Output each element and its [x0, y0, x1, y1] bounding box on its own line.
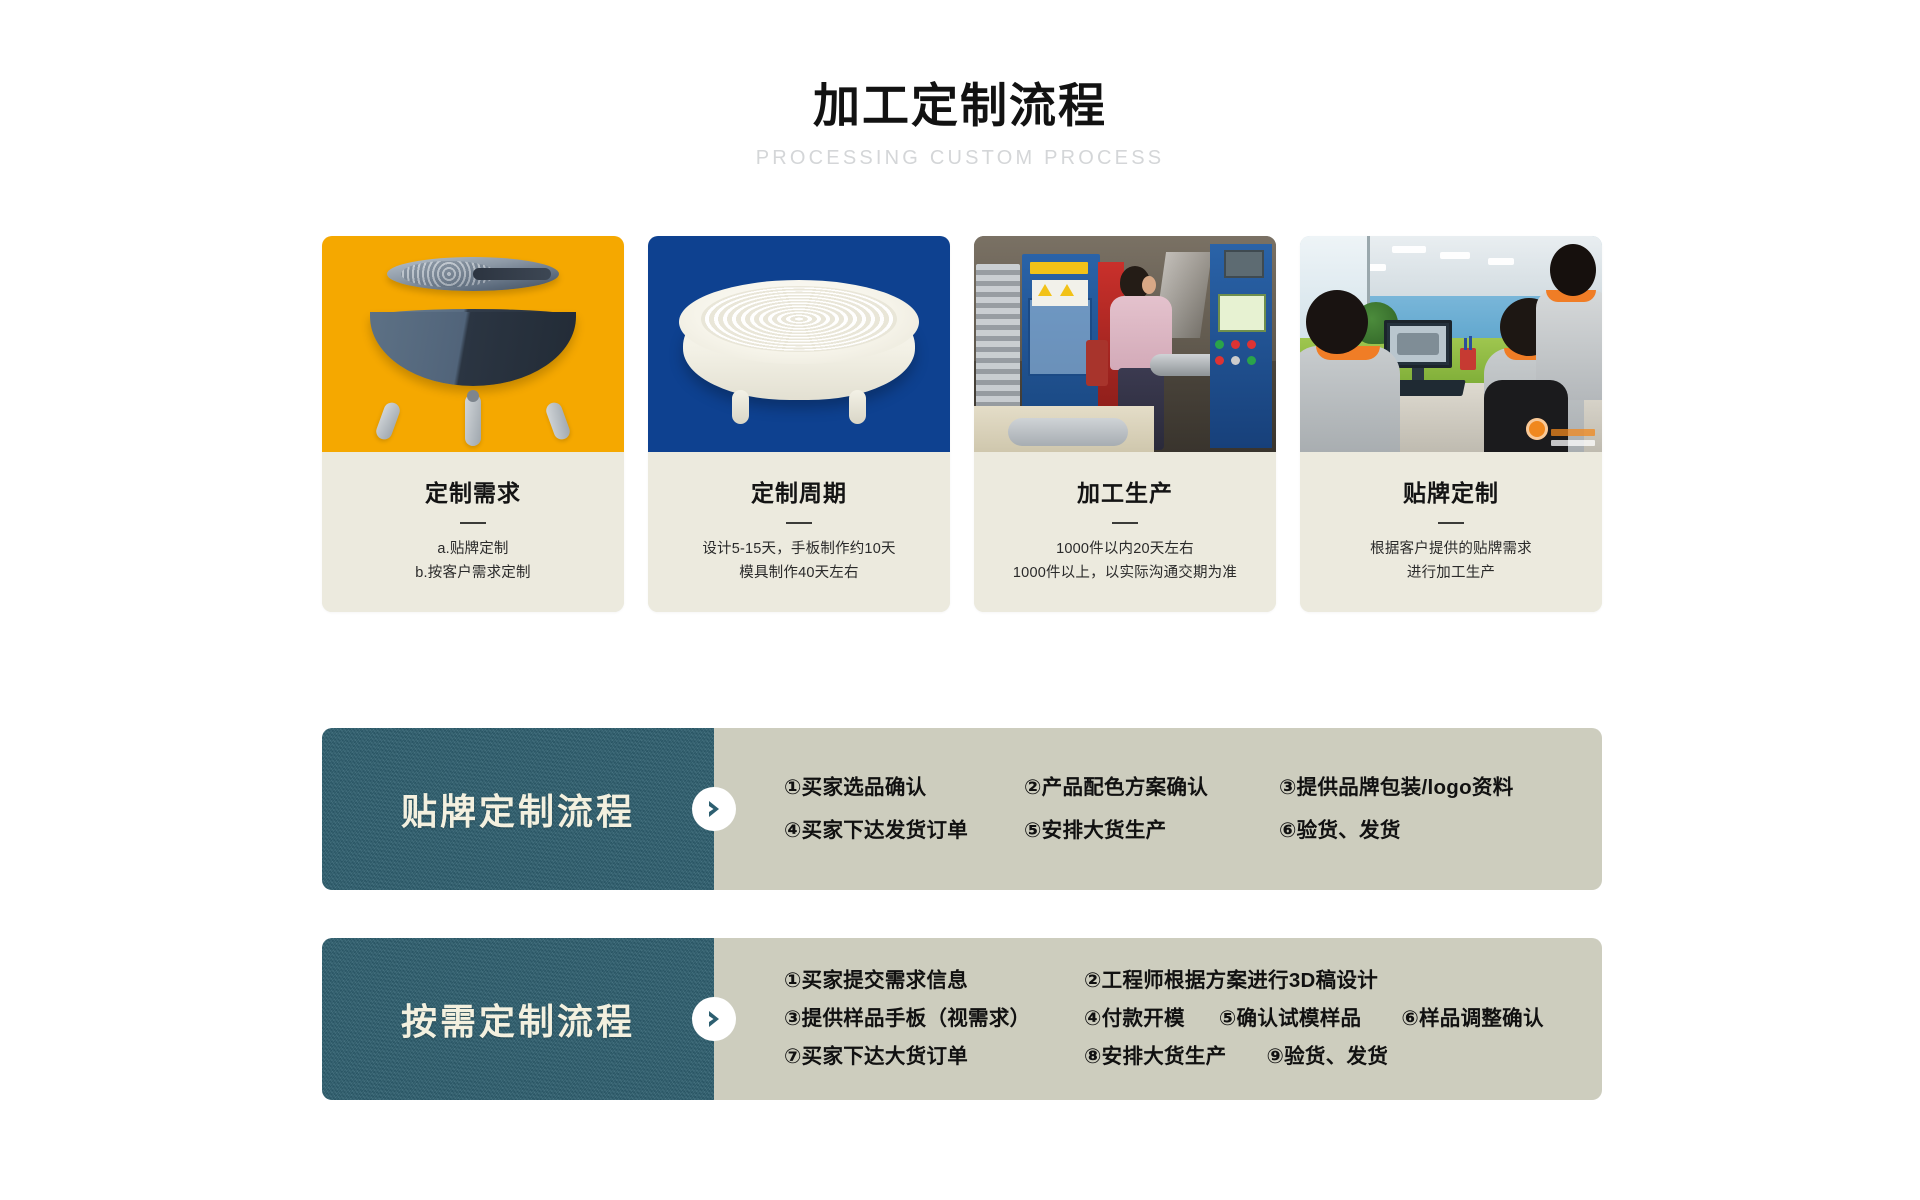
watermark-circle-icon: [1526, 418, 1548, 440]
factory-button-6-shape: [1247, 356, 1256, 365]
chevron-right-icon[interactable]: [692, 997, 736, 1041]
ondemand-process-label-panel: 按需定制流程: [322, 938, 714, 1100]
oem-process-label-panel: 贴牌定制流程: [322, 728, 714, 890]
watermark-text-line-2: [1551, 440, 1595, 446]
office-ceiling-light-1-shape: [1392, 246, 1426, 253]
card-title-3: 加工生产: [984, 474, 1266, 508]
card-desc-4-line-1: 根据客户提供的贴牌需求: [1310, 538, 1592, 562]
ondemand-process-label: 按需定制流程: [401, 993, 635, 1045]
ondemand-process-banner: 按需定制流程 ①买家提交需求信息 ②工程师根据方案进行3D稿设计 ③提供样品手板…: [322, 938, 1602, 1100]
card-desc-1-line-1: a.贴牌定制: [332, 538, 614, 562]
process-card-2[interactable]: 定制周期 设计5-15天，手板制作约10天 模具制作40天左右: [648, 236, 950, 612]
grill-lid-slot-shape: [473, 268, 551, 280]
watermark-text-line-1: [1551, 429, 1595, 436]
office-cad-drawing-shape: [1397, 333, 1439, 355]
ondemand-step-2: ②工程师根据方案进行3D稿设计: [1084, 962, 1378, 1000]
card-title-4: 贴牌定制: [1310, 474, 1592, 508]
card-image-white-prototype-photo: [648, 236, 950, 452]
card-image-factory-injection-molding-photo: [974, 236, 1276, 452]
oem-step-row-1: ①买家选品确认 ②产品配色方案确认 ③提供品牌包装/logo资料: [784, 766, 1582, 809]
card-divider-4: [1438, 522, 1464, 524]
factory-scene: [974, 236, 1276, 452]
card-desc-2-line-1: 设计5-15天，手板制作约10天: [658, 538, 940, 562]
office-person-left-body-shape: [1300, 346, 1400, 452]
oem-step-3: ③提供品牌包装/logo资料: [1279, 766, 1514, 809]
card-body-3: 加工生产 1000件以内20天左右 1000件以上，以实际沟通交期为准: [974, 452, 1276, 612]
office-monitor-screen-shape: [1390, 326, 1446, 362]
page-root: 加工定制流程 PROCESSING CUSTOM PROCESS 定制需求: [0, 0, 1920, 1200]
page-title: 加工定制流程: [0, 78, 1920, 134]
page-header: 加工定制流程 PROCESSING CUSTOM PROCESS: [0, 78, 1920, 170]
card-divider-2: [786, 522, 812, 524]
ondemand-step-5: ⑤确认试模样品: [1219, 1000, 1361, 1038]
grill-bowl-shape: [370, 312, 576, 386]
card-desc-2: 设计5-15天，手板制作约10天 模具制作40天左右: [658, 538, 940, 586]
oem-process-label: 贴牌定制流程: [401, 783, 635, 835]
factory-yellow-label-shape: [1030, 262, 1088, 274]
ondemand-step-row-3: ⑦买家下达大货订单 ⑧安排大货生产 ⑨验货、发货: [784, 1038, 1582, 1076]
card-desc-4: 根据客户提供的贴牌需求 进行加工生产: [1310, 538, 1592, 586]
factory-worker-face-shape: [1142, 276, 1156, 294]
factory-button-1-shape: [1215, 340, 1224, 349]
card-desc-1: a.贴牌定制 b.按客户需求定制: [332, 538, 614, 586]
process-card-3[interactable]: 加工生产 1000件以内20天左右 1000件以上，以实际沟通交期为准: [974, 236, 1276, 612]
oem-step-4: ④买家下达发货订单: [784, 809, 1024, 852]
ondemand-step-8: ⑧安排大货生产: [1084, 1038, 1226, 1076]
oem-step-5: ⑤安排大货生产: [1024, 809, 1279, 852]
oem-step-row-2: ④买家下达发货订单 ⑤安排大货生产 ⑥验货、发货: [784, 809, 1582, 852]
grill-leg-left-shape: [374, 400, 402, 441]
grill-leg-right-shape: [544, 400, 572, 441]
card-body-1: 定制需求 a.贴牌定制 b.按客户需求定制: [322, 452, 624, 612]
factory-hmi-screen-shape: [1218, 294, 1266, 332]
prototype-rings-shape: [701, 286, 897, 352]
factory-warning-sign-shape: [1032, 280, 1088, 306]
oem-step-6: ⑥验货、发货: [1279, 809, 1401, 852]
process-card-1[interactable]: 定制需求 a.贴牌定制 b.按客户需求定制: [322, 236, 624, 612]
card-desc-3-line-2: 1000件以上，以实际沟通交期为准: [984, 562, 1266, 586]
office-person-right-head-shape: [1550, 244, 1596, 296]
ondemand-step-4: ④付款开模: [1084, 1000, 1185, 1038]
ondemand-step-7: ⑦买家下达大货订单: [784, 1038, 1084, 1076]
factory-button-5-shape: [1231, 356, 1240, 365]
factory-button-3-shape: [1247, 340, 1256, 349]
card-desc-2-line-2: 模具制作40天左右: [658, 562, 940, 586]
card-title-2: 定制周期: [658, 474, 940, 508]
office-ceiling-light-3-shape: [1488, 258, 1514, 265]
card-desc-1-line-2: b.按客户需求定制: [332, 562, 614, 586]
ondemand-step-1: ①买家提交需求信息: [784, 962, 1084, 1000]
oem-step-2: ②产品配色方案确认: [1024, 766, 1279, 809]
process-card-4[interactable]: 贴牌定制 根据客户提供的贴牌需求 进行加工生产: [1300, 236, 1602, 612]
factory-molded-part-shape: [1008, 418, 1128, 446]
card-image-office-engineers-cad-photo: [1300, 236, 1602, 452]
oem-step-1: ①买家选品确认: [784, 766, 1024, 809]
card-body-2: 定制周期 设计5-15天，手板制作约10天 模具制作40天左右: [648, 452, 950, 612]
factory-button-4-shape: [1215, 356, 1224, 365]
office-pen-cup-shape: [1460, 348, 1476, 370]
card-title-1: 定制需求: [332, 474, 614, 508]
factory-red-block-shape: [1086, 340, 1108, 386]
factory-button-2-shape: [1231, 340, 1240, 349]
factory-machine-window-shape: [1028, 298, 1092, 376]
office-ceiling-light-2-shape: [1440, 252, 1470, 259]
ondemand-step-9: ⑨验货、发货: [1266, 1038, 1388, 1076]
office-keyboard-shape: [1390, 380, 1465, 396]
ondemand-step-6: ⑥样品调整确认: [1401, 1000, 1543, 1038]
card-image-exploded-grill-render: [322, 236, 624, 452]
card-desc-3-line-1: 1000件以内20天左右: [984, 538, 1266, 562]
office-scene: [1300, 236, 1602, 452]
office-watermark-logo: [1526, 414, 1596, 448]
ondemand-process-steps: ①买家提交需求信息 ②工程师根据方案进行3D稿设计 ③提供样品手板（视需求） ④…: [714, 938, 1602, 1100]
card-divider-3: [1112, 522, 1138, 524]
process-card-list: 定制需求 a.贴牌定制 b.按客户需求定制 定制周期 设: [322, 236, 1602, 612]
oem-process-steps: ①买家选品确认 ②产品配色方案确认 ③提供品牌包装/logo资料 ④买家下达发货…: [714, 728, 1602, 890]
prototype-foot-left-shape: [732, 390, 749, 424]
ondemand-step-row-2: ③提供样品手板（视需求） ④付款开模 ⑤确认试模样品 ⑥样品调整确认: [784, 1000, 1582, 1038]
card-desc-4-line-2: 进行加工生产: [1310, 562, 1592, 586]
grill-lid-shape: [387, 257, 559, 291]
office-person-left-head-shape: [1306, 290, 1368, 354]
prototype-foot-right-shape: [849, 390, 866, 424]
oem-process-banner: 贴牌定制流程 ①买家选品确认 ②产品配色方案确认 ③提供品牌包装/logo资料 …: [322, 728, 1602, 890]
grill-leg-center-shape: [465, 394, 481, 446]
card-desc-3: 1000件以内20天左右 1000件以上，以实际沟通交期为准: [984, 538, 1266, 586]
factory-parts-stack-shape: [976, 264, 1020, 412]
chevron-right-icon[interactable]: [692, 787, 736, 831]
card-divider-1: [460, 522, 486, 524]
page-subtitle: PROCESSING CUSTOM PROCESS: [0, 147, 1920, 170]
card-body-4: 贴牌定制 根据客户提供的贴牌需求 进行加工生产: [1300, 452, 1602, 612]
ondemand-step-3: ③提供样品手板（视需求）: [784, 1000, 1084, 1038]
factory-upper-display-shape: [1224, 250, 1264, 278]
ondemand-step-row-1: ①买家提交需求信息 ②工程师根据方案进行3D稿设计: [784, 962, 1582, 1000]
